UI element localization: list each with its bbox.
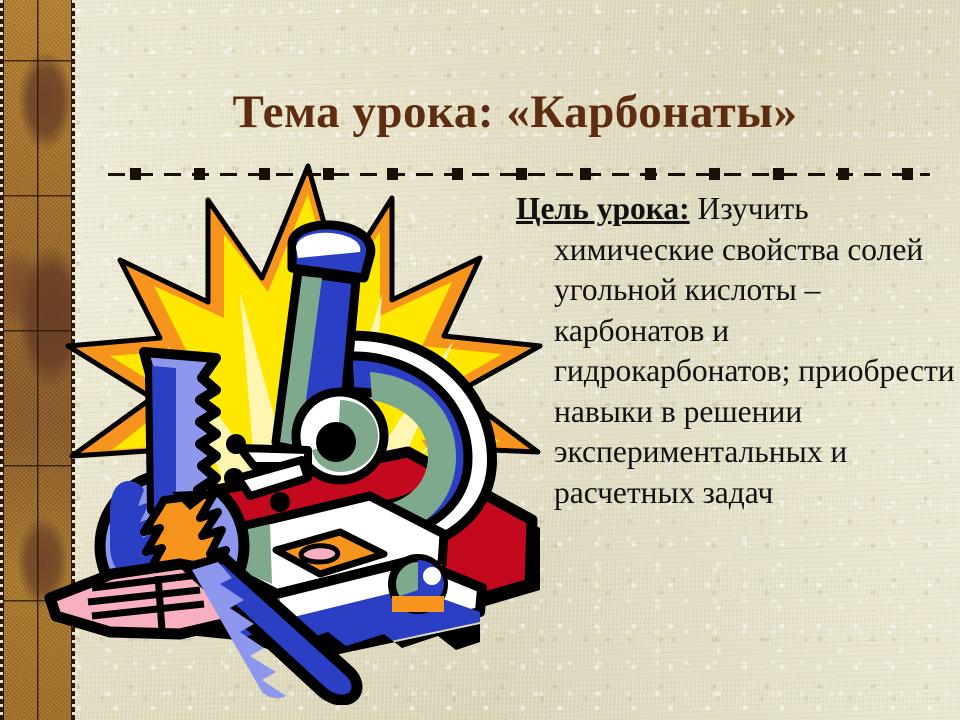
divider-dot [130, 168, 141, 180]
microscope-illustration [40, 160, 560, 705]
lesson-goal-text: Цель урока: Изучить химические свойства … [516, 189, 960, 513]
slide-canvas: Тема урока: «Карбонаты» Цель урока: Изуч… [0, 0, 960, 720]
divider-dot [902, 168, 913, 180]
lesson-goal-body: Изучить химические свойства солей угольн… [554, 191, 955, 510]
clip-pivot-c [270, 492, 290, 512]
divider-dot [452, 168, 463, 180]
mirror-knob-glint [423, 567, 441, 585]
divider-dot [709, 168, 720, 180]
dash-dot-divider [108, 168, 930, 180]
divider-dot [773, 168, 784, 180]
divider-dot [323, 168, 334, 180]
divider-dot [580, 168, 591, 180]
lesson-goal-label: Цель урока: [516, 191, 690, 226]
focus-knob-center [316, 422, 356, 462]
divider-dot [387, 168, 398, 180]
page-title: Тема урока: «Карбонаты» [100, 88, 930, 137]
mirror-knob-base [392, 596, 444, 612]
divider-dot [194, 168, 205, 180]
divider-square-dots [108, 168, 930, 180]
specimen-sample [301, 546, 338, 562]
clip-pivot-a [226, 434, 246, 454]
flask-neck-shading [152, 366, 176, 508]
border-ticks-left [0, 0, 3, 720]
divider-dot [645, 168, 656, 180]
divider-dot [838, 168, 849, 180]
divider-dot [259, 168, 270, 180]
divider-dot [516, 168, 527, 180]
title-block: Тема урока: «Карбонаты» [100, 88, 930, 137]
clip-pivot-b [224, 468, 244, 488]
paper-line-vertical [158, 576, 162, 630]
